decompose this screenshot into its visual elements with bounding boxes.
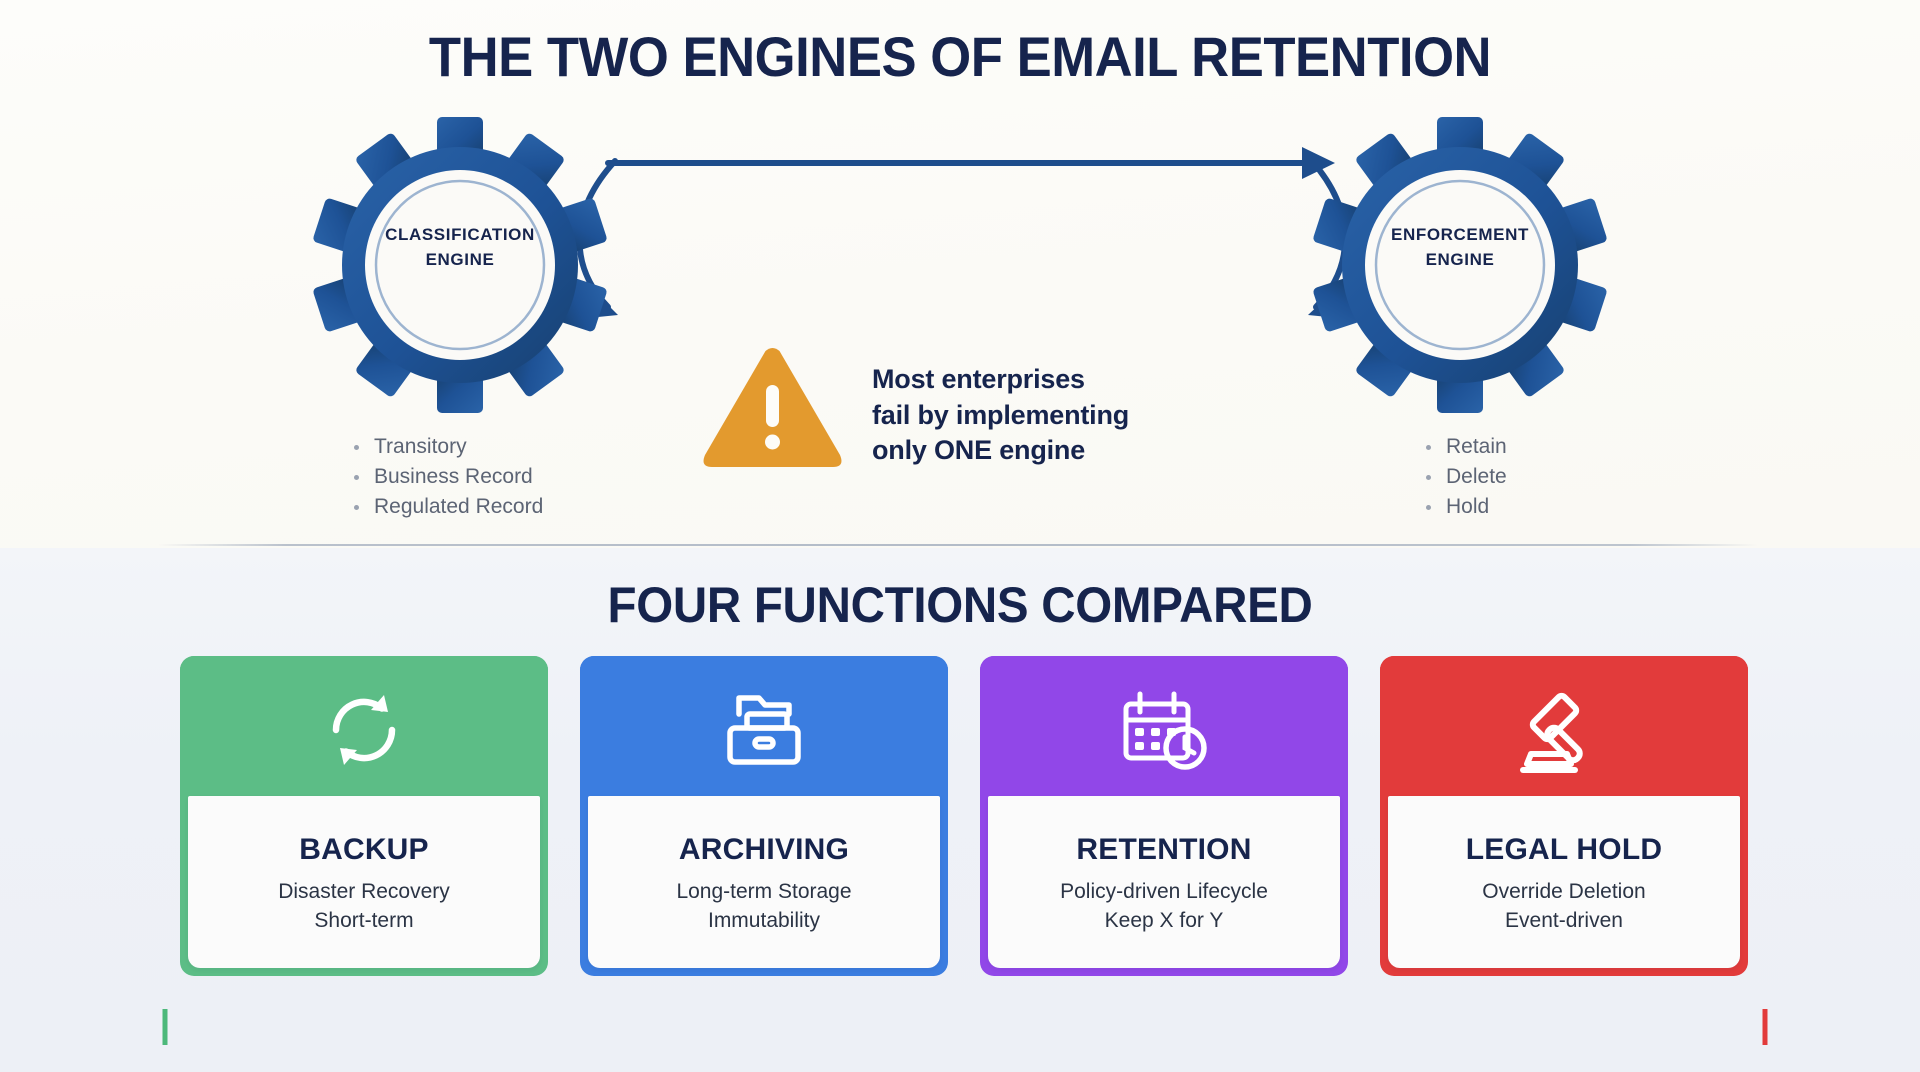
page-title: THE TWO ENGINES OF EMAIL RETENTION	[58, 24, 1863, 89]
card-title: RETENTION	[1076, 833, 1251, 867]
card-subtitle-2: Event-driven	[1505, 906, 1623, 935]
calendar-clock-icon	[1114, 684, 1214, 776]
classification-engine-gear: CLASSIFICATION ENGINE	[310, 115, 610, 415]
card-subtitle-2: Keep X for Y	[1105, 906, 1224, 935]
card-title: ARCHIVING	[679, 833, 849, 867]
infographic-page: THE TWO ENGINES OF EMAIL RETENTION	[0, 0, 1920, 1072]
function-cards-row: BACKUP Disaster Recovery Short-term	[180, 656, 1750, 976]
card-body: RETENTION Policy-driven Lifecycle Keep X…	[988, 796, 1340, 968]
card-title: BACKUP	[299, 833, 429, 867]
ruler-svg	[160, 1003, 1770, 1051]
card-subtitle-1: Disaster Recovery	[278, 877, 450, 906]
engines-section: THE TWO ENGINES OF EMAIL RETENTION	[0, 0, 1920, 548]
gear-label: ENFORCEMENT ENGINE	[1360, 223, 1560, 272]
engines-row: CLASSIFICATION ENGINE	[0, 115, 1920, 415]
card-body: ARCHIVING Long-term Storage Immutability	[588, 796, 940, 968]
section-divider	[158, 544, 1758, 546]
function-card-archiving[interactable]: ARCHIVING Long-term Storage Immutability	[580, 656, 948, 976]
timeline-ruler	[160, 1003, 1770, 1056]
gear-label-line2: ENGINE	[1426, 250, 1495, 269]
card-subtitle-2: Short-term	[314, 906, 413, 935]
warning-line-2: fail by implementing	[872, 398, 1129, 434]
enforcement-actions-list: Retain Delete Hold	[1424, 432, 1507, 522]
gavel-icon	[1513, 684, 1615, 776]
gear-label: CLASSIFICATION ENGINE	[360, 223, 560, 272]
list-item: Regulated Record	[352, 492, 543, 522]
warning-line-3: only ONE engine	[872, 433, 1129, 469]
section-title: FOUR FUNCTIONS COMPARED	[48, 576, 1872, 634]
card-subtitle-1: Long-term Storage	[676, 877, 851, 906]
file-box-archive-icon	[715, 684, 813, 776]
card-header	[580, 656, 948, 804]
list-item: Transitory	[352, 432, 543, 462]
list-item: Business Record	[352, 462, 543, 492]
function-card-legal-hold[interactable]: LEGAL HOLD Override Deletion Event-drive…	[1380, 656, 1748, 976]
list-item: Retain	[1424, 432, 1507, 462]
list-item: Hold	[1424, 492, 1507, 522]
card-header	[980, 656, 1348, 804]
card-subtitle-1: Override Deletion	[1482, 877, 1645, 906]
card-body: LEGAL HOLD Override Deletion Event-drive…	[1388, 796, 1740, 968]
gear-label-line1: CLASSIFICATION	[385, 225, 535, 244]
function-card-backup[interactable]: BACKUP Disaster Recovery Short-term	[180, 656, 548, 976]
card-title: LEGAL HOLD	[1466, 833, 1662, 867]
classification-outputs-list: Transitory Business Record Regulated Rec…	[352, 432, 543, 522]
function-card-retention[interactable]: RETENTION Policy-driven Lifecycle Keep X…	[980, 656, 1348, 976]
warning-message: Most enterprises fail by implementing on…	[872, 362, 1129, 469]
card-header	[180, 656, 548, 804]
warning-triangle-icon	[700, 343, 845, 473]
warning-line-1: Most enterprises	[872, 362, 1129, 398]
enforcement-engine-gear: ENFORCEMENT ENGINE	[1310, 115, 1610, 415]
sync-refresh-icon	[318, 684, 410, 776]
card-body: BACKUP Disaster Recovery Short-term	[188, 796, 540, 968]
list-item: Delete	[1424, 462, 1507, 492]
gear-label-line2: ENGINE	[426, 250, 495, 269]
card-subtitle-1: Policy-driven Lifecycle	[1060, 877, 1268, 906]
card-subtitle-2: Immutability	[708, 906, 820, 935]
card-header	[1380, 656, 1748, 804]
functions-section: FOUR FUNCTIONS COMPARED BACKUP	[0, 548, 1920, 1072]
gear-label-line1: ENFORCEMENT	[1391, 225, 1529, 244]
